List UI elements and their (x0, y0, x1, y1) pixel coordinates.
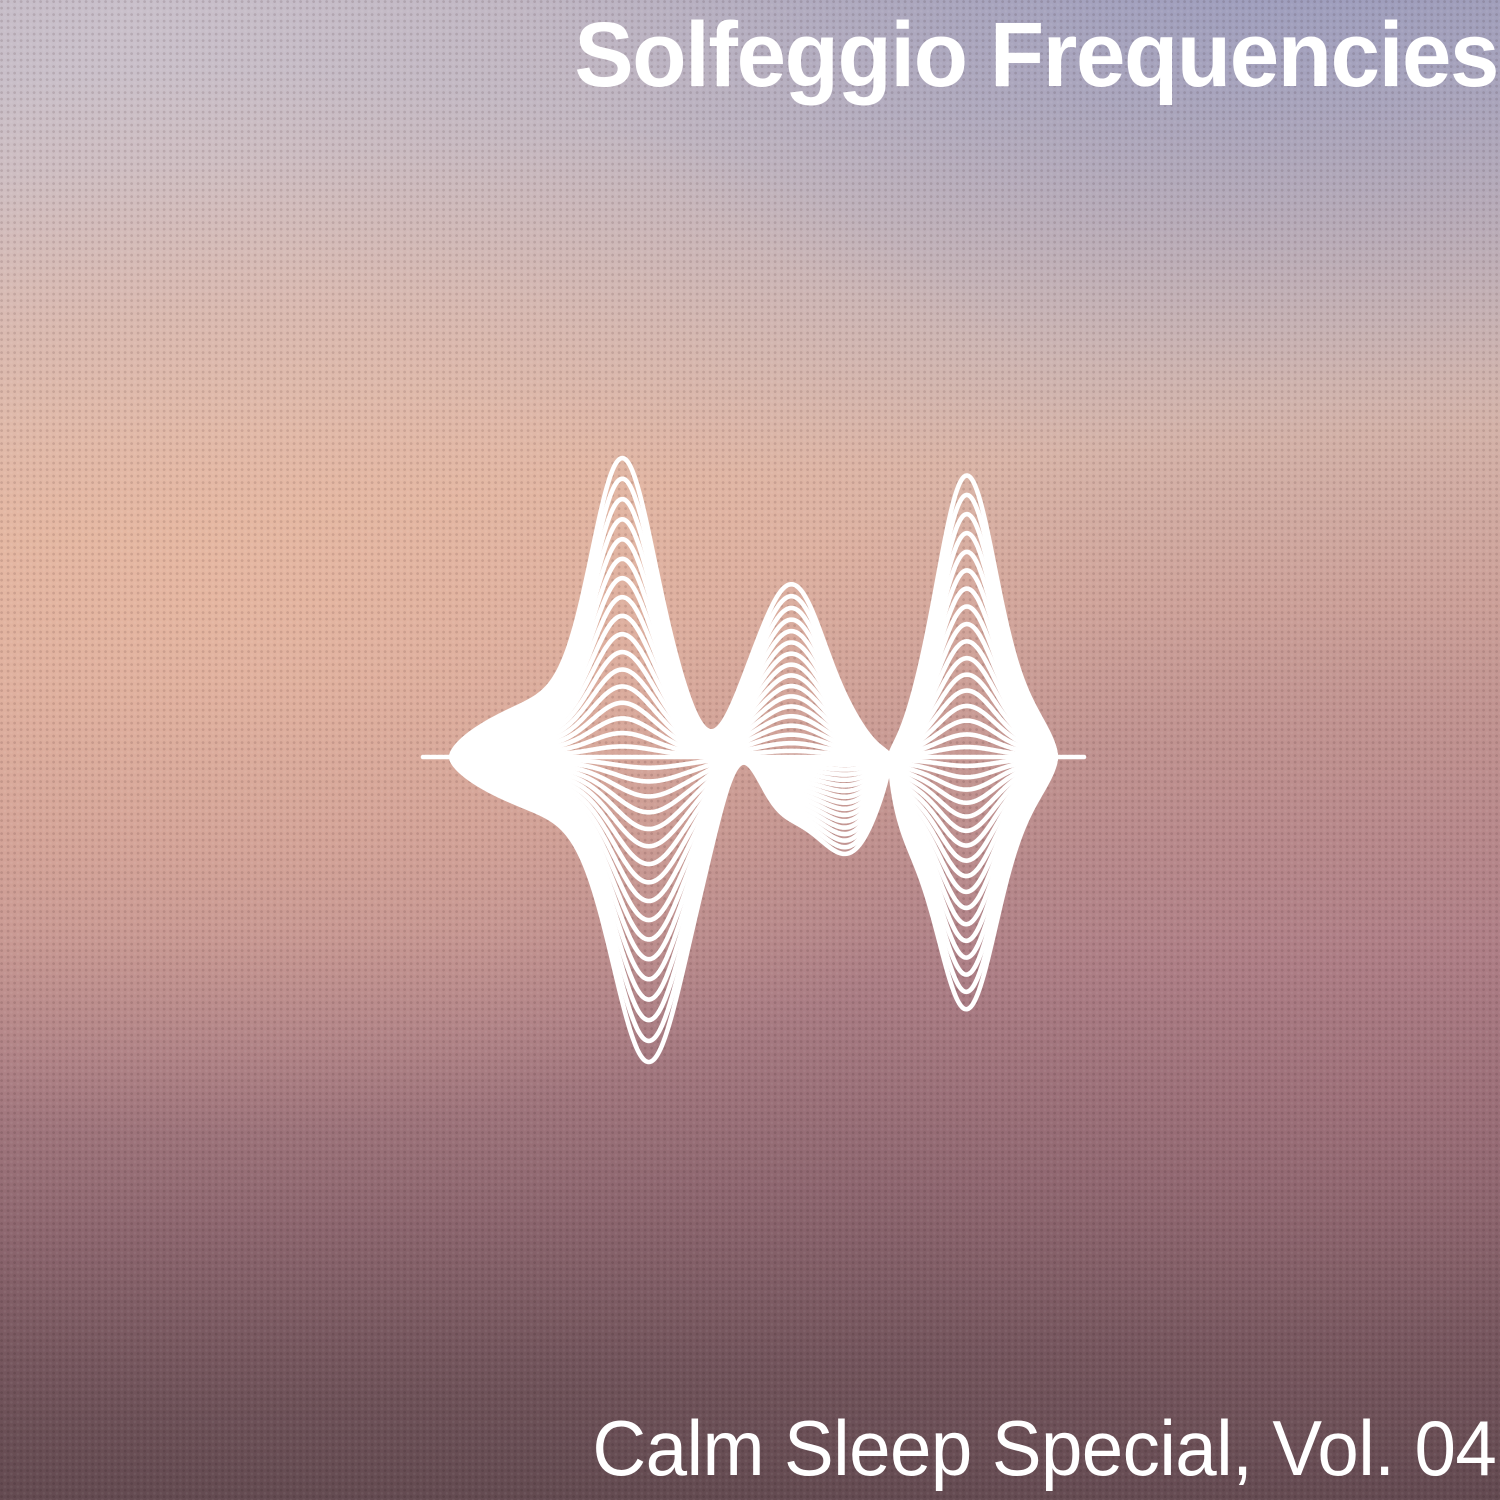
waveform-line-upper (451, 458, 1056, 757)
waveform-line-lower (451, 757, 1056, 768)
background-gradient-pink (0, 0, 1500, 1500)
background-gradient-peach (0, 0, 1500, 1500)
waveform-line-upper (451, 578, 1056, 757)
waveform-line-lower (451, 757, 1056, 920)
waveform-line-lower (451, 757, 1056, 959)
waveform-line-upper (451, 597, 1056, 757)
waveform-line-lower (451, 757, 1056, 781)
waveform-line-lower (451, 757, 1056, 1000)
waveform-line-upper (451, 479, 1056, 757)
album-title: Solfeggio Frequencies (53, 4, 1500, 107)
waveform-line-lower (451, 757, 1056, 1041)
background-vignette (0, 0, 1500, 1500)
waveform-line-lower (451, 757, 1056, 1020)
waveform-line-lower (451, 757, 1056, 829)
halftone-texture-light (0, 0, 1500, 1500)
background-gradient-blue (0, 0, 1500, 1500)
waveform-line-lower (451, 757, 1056, 901)
waveform-line-upper (451, 733, 1056, 757)
background-gradient-shade (0, 0, 1500, 1500)
waveform-line-upper (451, 746, 1056, 757)
waveform-line-lower (451, 757, 1056, 1062)
waveform-line-upper (451, 616, 1056, 757)
waveform-line-upper (451, 559, 1056, 757)
waveform-line-upper (451, 652, 1056, 757)
waveform-line-lower (451, 757, 1056, 939)
waveform-line-upper (451, 499, 1056, 757)
halftone-texture-dark (0, 0, 1500, 1500)
album-cover: Solfeggio Frequencies Calm Sleep Special… (0, 0, 1500, 1500)
waveform-line-lower (451, 757, 1056, 864)
waveform-line-lower (451, 757, 1056, 882)
waveform-line-upper (451, 686, 1056, 757)
waveform-line-upper (451, 718, 1056, 757)
waveform-line-upper (451, 703, 1056, 757)
waveform-line-upper (451, 634, 1056, 757)
waveform-line-lower (451, 757, 1056, 846)
waveform-line-upper (451, 670, 1056, 757)
waveform-line-upper (451, 519, 1056, 757)
audio-waveform-icon (0, 0, 1500, 1500)
waveform-line-lower (451, 757, 1056, 796)
waveform-line-lower (451, 757, 1056, 812)
background-gradient-base (0, 0, 1500, 1500)
waveform-line-lower (451, 757, 1056, 979)
waveform-line-upper (451, 539, 1056, 757)
album-subtitle: Calm Sleep Special, Vol. 04 (68, 1404, 1500, 1494)
